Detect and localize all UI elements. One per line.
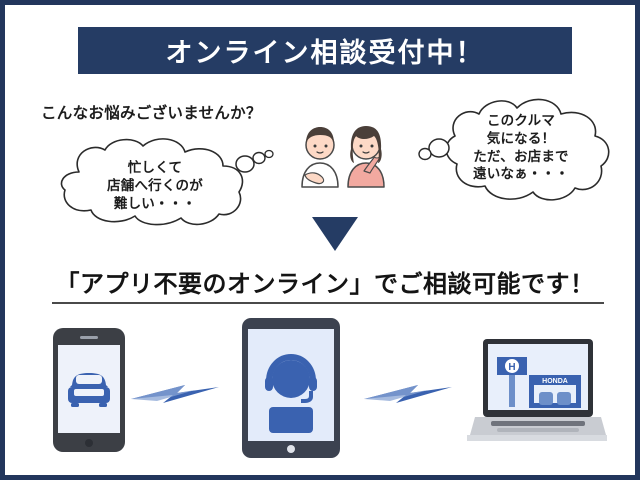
tablet-svg	[241, 317, 341, 459]
cloud-line: 難しい・・・	[39, 195, 271, 213]
banner-title-bar: オンライン相談受付中！	[78, 27, 572, 74]
people-illustration	[288, 109, 396, 197]
smartphone-illustration	[52, 327, 126, 453]
laptop-illustration: HONDA H	[467, 335, 607, 451]
cloud-line: 気になる！	[421, 130, 621, 148]
solution-headline-wrapper: 「アプリ不要のオンライン」でご相談可能です！	[5, 264, 640, 299]
man-figure	[302, 127, 338, 187]
storefront-label: HONDA	[542, 378, 568, 385]
cloud-line: 店舗へ行くのが	[39, 177, 271, 195]
woman-figure	[348, 126, 384, 187]
lightning-connector-right	[360, 373, 456, 413]
cloud-line: 忙しくて	[39, 159, 271, 177]
lightning-bolt-icon	[360, 373, 456, 413]
smartphone-svg	[52, 327, 126, 453]
lightning-bolt-icon	[127, 373, 223, 413]
banner-title: オンライン相談受付中！	[166, 31, 485, 70]
thought-cloud-right-text: このクルマ 気になる！ ただ、お店まで 遠いなぁ・・・	[421, 112, 621, 183]
solution-headline: 「アプリ不要のオンライン」でご相談可能です！	[56, 264, 595, 299]
solution-underline	[52, 302, 604, 304]
people-illustration-svg	[288, 109, 396, 197]
thought-cloud-left: 忙しくて 店舗へ行くのが 難しい・・・	[39, 136, 271, 228]
car-front-icon	[68, 373, 110, 407]
cloud-line: このクルマ	[421, 112, 621, 130]
down-arrow-icon	[312, 217, 358, 251]
tablet-illustration	[241, 317, 341, 459]
cloud-line: ただ、お店まで	[421, 148, 621, 166]
cloud-line: 遠いなぁ・・・	[421, 165, 621, 183]
thought-cloud-left-text: 忙しくて 店舗へ行くのが 難しい・・・	[39, 159, 271, 212]
sign-logo: H	[508, 362, 515, 373]
thought-cloud-right: このクルマ 気になる！ ただ、お店まで 遠いなぁ・・・	[421, 92, 621, 208]
lightning-connector-left	[127, 373, 223, 413]
online-consultation-banner: オンライン相談受付中！ こんなお悩みございませんか？ 忙しくて 店舗へ行くのが …	[0, 0, 640, 480]
laptop-svg: HONDA H	[467, 335, 607, 451]
problem-heading: こんなお悩みございませんか？	[41, 101, 262, 123]
